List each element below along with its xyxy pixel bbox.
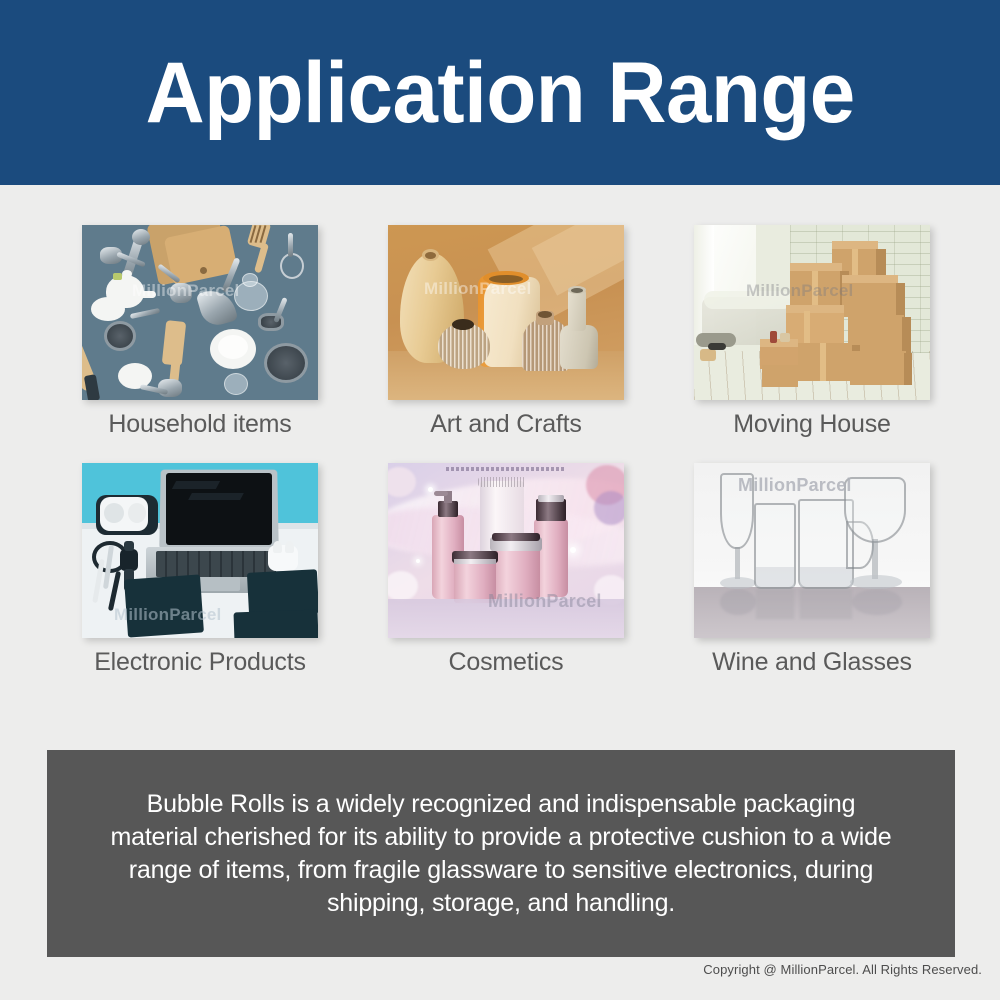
description-panel: Bubble Rolls is a widely recognized and …	[47, 750, 955, 957]
tile-wine-and-glasses[interactable]: MillionParcel Wine and Glasses	[694, 463, 930, 677]
tile-caption-moving-house: Moving House	[694, 410, 930, 439]
household-items-image: MillionParcel	[82, 225, 318, 400]
cosmetics-illustration	[388, 463, 624, 638]
moving-house-image: MillionParcel	[694, 225, 930, 400]
application-grid: MillionParcel Household items	[82, 225, 930, 701]
description-text: Bubble Rolls is a widely recognized and …	[47, 788, 955, 920]
moving-boxes-illustration	[694, 225, 930, 400]
tile-art-and-crafts[interactable]: MillionParcel Art and Crafts	[388, 225, 624, 439]
tile-caption-cosmetics: Cosmetics	[388, 648, 624, 677]
tile-caption-electronic-products: Electronic Products	[82, 648, 318, 677]
grid-row-2: MillionParcel Electronic Products	[82, 463, 930, 677]
application-range-infographic: Application Range	[0, 0, 1000, 1000]
tile-moving-house[interactable]: MillionParcel Moving House	[694, 225, 930, 439]
tile-caption-wine-and-glasses: Wine and Glasses	[694, 648, 930, 677]
electronic-products-image: MillionParcel	[82, 463, 318, 638]
electronics-illustration	[82, 463, 318, 638]
tile-cosmetics[interactable]: MillionParcel Cosmetics	[388, 463, 624, 677]
art-and-crafts-image: MillionParcel	[388, 225, 624, 400]
tile-household-items[interactable]: MillionParcel Household items	[82, 225, 318, 439]
page-title: Application Range	[145, 50, 854, 136]
cosmetics-image: MillionParcel	[388, 463, 624, 638]
tile-caption-household-items: Household items	[82, 410, 318, 439]
grid-row-1: MillionParcel Household items	[82, 225, 930, 439]
page-header: Application Range	[0, 0, 1000, 185]
ceramic-vases-illustration	[388, 225, 624, 400]
kitchen-utensils-illustration	[82, 225, 318, 400]
wine-and-glasses-image: MillionParcel	[694, 463, 930, 638]
glassware-illustration	[694, 463, 930, 638]
tile-electronic-products[interactable]: MillionParcel Electronic Products	[82, 463, 318, 677]
tile-caption-art-and-crafts: Art and Crafts	[388, 410, 624, 439]
copyright-footer: Copyright @ MillionParcel. All Rights Re…	[703, 962, 982, 977]
